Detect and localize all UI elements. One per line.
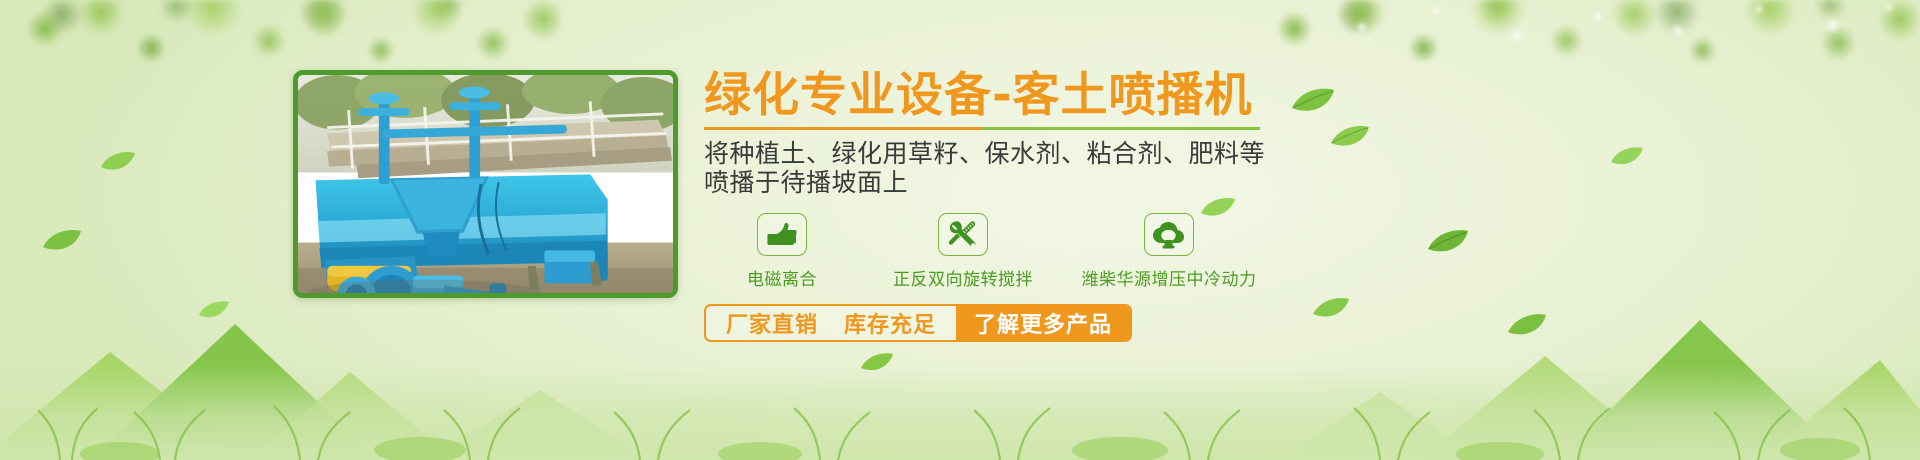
- banner-content: 绿化专业设备-客土喷播机 将种植土、绿化用草籽、保水剂、粘合剂、肥料等 喷播于待…: [704, 68, 1864, 342]
- feature-label-3: 潍柴华源增压中冷动力: [1066, 265, 1272, 290]
- product-photo-frame: [293, 70, 678, 298]
- feature-label-1: 电磁离合: [704, 265, 860, 290]
- floating-leaf-icon: [860, 352, 894, 374]
- canopy-shadow-left: [0, 0, 520, 72]
- grass-blades: [0, 350, 1920, 460]
- subtitle-line-1: 将种植土、绿化用草籽、保水剂、粘合剂、肥料等: [704, 139, 1864, 168]
- feature-label-2: 正反双向旋转搅拌: [860, 265, 1066, 290]
- tools-icon: [947, 220, 979, 250]
- product-photo: [298, 75, 673, 297]
- cta-slogan-2: 库存充足: [844, 307, 936, 339]
- feature-icon-box-3: [1144, 213, 1194, 256]
- cta-slogan-1: 厂家直销: [726, 307, 818, 339]
- subtitle-line-2: 喷播于待播坡面上: [704, 168, 1864, 197]
- thumbs-up-icon: [766, 221, 798, 249]
- promo-banner: 绿化专业设备-客土喷播机 将种植土、绿化用草籽、保水剂、粘合剂、肥料等 喷播于待…: [0, 0, 1920, 460]
- cta-bar[interactable]: 厂家直销 库存充足 了解更多产品: [704, 304, 1132, 342]
- engine-power-icon: [1152, 221, 1186, 249]
- title-divider: [704, 127, 1260, 130]
- floating-leaf-icon: [198, 300, 230, 321]
- floating-leaf-icon: [42, 228, 82, 254]
- feature-item-2: 正反双向旋转搅拌: [860, 213, 1066, 290]
- banner-subtitle: 将种植土、绿化用草籽、保水剂、粘合剂、肥料等 喷播于待播坡面上: [704, 139, 1864, 197]
- meadow-strip: [0, 364, 1920, 460]
- feature-icon-box-2: [938, 213, 988, 256]
- feature-item-1: 电磁离合: [704, 213, 860, 290]
- canopy-shadow-right: [1280, 0, 1920, 72]
- learn-more-button[interactable]: 了解更多产品: [956, 306, 1130, 340]
- cta-slogans: 厂家直销 库存充足: [706, 306, 956, 340]
- page-title: 绿化专业设备-客土喷播机: [704, 68, 1864, 124]
- floating-leaf-icon: [100, 150, 136, 174]
- feature-list: 电磁离合: [704, 213, 1864, 290]
- feature-icon-box-1: [757, 213, 807, 256]
- feature-item-3: 潍柴华源增压中冷动力: [1066, 213, 1272, 290]
